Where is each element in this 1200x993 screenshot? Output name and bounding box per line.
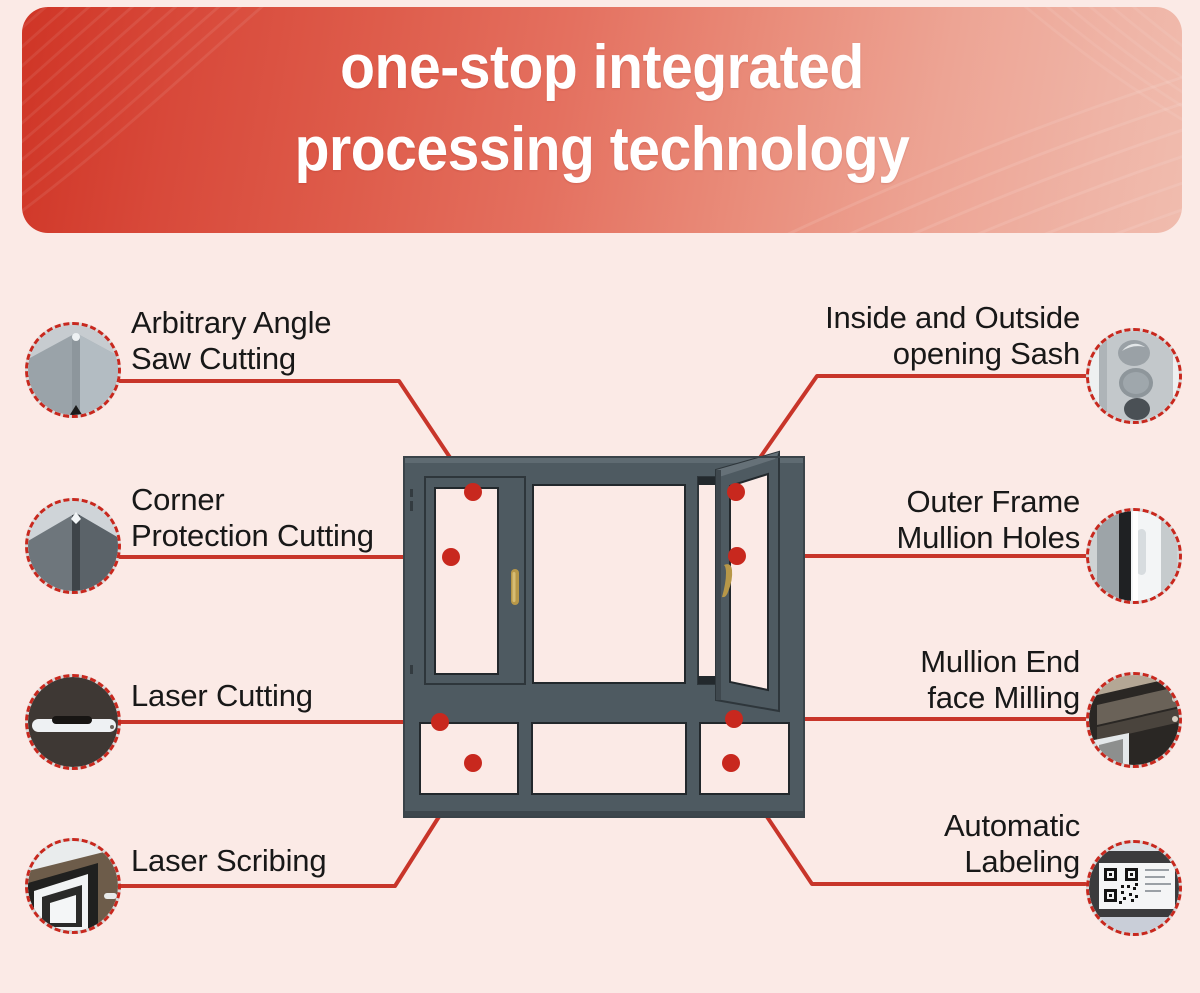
thumbnail-image	[28, 501, 118, 591]
anchor-dot-corner-protection-cutting[interactable]	[442, 548, 460, 566]
callout-label-laser-scribing: Laser Scribing	[131, 843, 326, 879]
thumbnail-mullion-hole-profile-photo[interactable]	[1086, 508, 1182, 604]
callout-label-inside-and-outside-opening-sash: Inside and Outside opening Sash	[660, 300, 1080, 372]
hinge-mark-bottom	[410, 665, 413, 674]
thumbnail-image	[28, 677, 118, 767]
callout-label-arbitrary-angle-saw-cutting: Arbitrary Angle Saw Cutting	[131, 305, 331, 377]
lower-panel-right-glass	[700, 723, 789, 794]
thumbnail-image	[1089, 331, 1179, 421]
lower-panel-row	[420, 723, 789, 794]
sash-right-handle	[722, 564, 732, 597]
thumbnail-image	[28, 325, 118, 415]
thumbnail-corner-protection-photo[interactable]	[25, 498, 121, 594]
callout-label-laser-cutting: Laser Cutting	[131, 678, 313, 714]
sash-right-top-face	[716, 452, 779, 477]
callout-label-corner-protection-cutting: Corner Protection Cutting	[131, 482, 374, 554]
thumbnail-mitred-corner-cut-photo[interactable]	[25, 322, 121, 418]
callout-label-automatic-labeling: Automatic Labeling	[660, 808, 1080, 880]
connector-arbitrary-angle-saw-cutting	[118, 381, 473, 492]
anchor-dot-automatic-labeling[interactable]	[722, 754, 740, 772]
callout-label-outer-frame-mullion-holes: Outer Frame Mullion Holes	[660, 484, 1080, 556]
thumbnail-image	[1089, 843, 1179, 933]
thumbnail-sash-drilled-holes-photo[interactable]	[1086, 328, 1182, 424]
infographic-root: one-stop integrated processing technolog…	[0, 0, 1200, 993]
thumbnail-image	[1089, 511, 1179, 601]
connector-inside-and-outside-opening-sash	[736, 376, 1085, 492]
lower-panel-center-glass	[532, 723, 686, 794]
anchor-dot-laser-cutting[interactable]	[431, 713, 449, 731]
anchor-dot-arbitrary-angle-saw-cutting[interactable]	[464, 483, 482, 501]
hinge-mark-top	[410, 489, 413, 497]
sash-left-handle	[511, 569, 519, 605]
window-outer-frame-highlight	[404, 457, 804, 463]
header-banner: one-stop integrated processing technolog…	[22, 7, 1182, 233]
callout-label-mullion-end-face-milling: Mullion End face Milling	[660, 644, 1080, 716]
thumbnail-image	[1089, 675, 1179, 765]
thumbnail-laser-cut-slot-photo[interactable]	[25, 674, 121, 770]
hinge-mark-mid	[410, 501, 413, 511]
lower-panel-left-glass	[420, 723, 518, 794]
thumbnail-qr-code-label-photo[interactable]	[1086, 840, 1182, 936]
anchor-dot-laser-scribing[interactable]	[464, 754, 482, 772]
thumbnail-image	[28, 841, 118, 931]
sash-left	[410, 477, 525, 684]
sash-left-glass	[435, 488, 498, 674]
thumbnail-milled-mullion-end-photo[interactable]	[1086, 672, 1182, 768]
page-title: one-stop integrated processing technolog…	[68, 27, 1135, 191]
thumbnail-laser-scribed-profile-photo[interactable]	[25, 838, 121, 934]
